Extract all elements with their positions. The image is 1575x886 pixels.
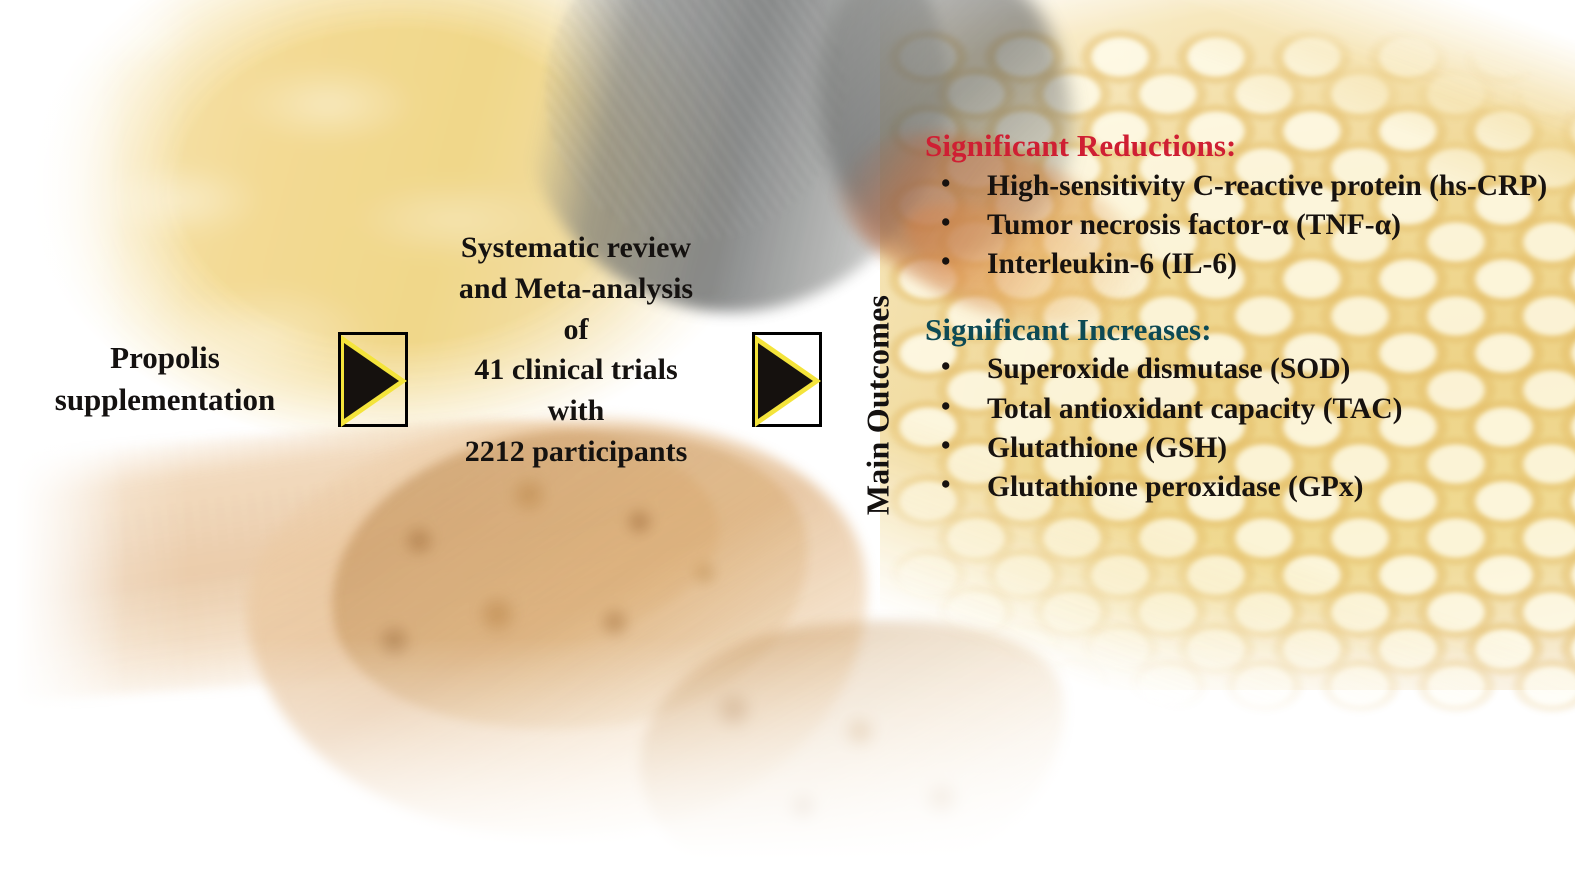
- graphical-abstract: Propolis supplementation Systematic revi…: [0, 0, 1575, 886]
- list-item: Glutathione peroxidase (GPx): [925, 468, 1575, 506]
- outcomes-column: Significant Reductions: High-sensitivity…: [925, 128, 1575, 507]
- significant-reductions-heading: Significant Reductions:: [925, 128, 1575, 165]
- section-spacer: [925, 284, 1575, 312]
- significant-increases-list: Superoxide dismutase (SOD)Total antioxid…: [925, 350, 1575, 506]
- main-outcomes-vertical-label-wrap: Main Outcomes: [860, 240, 896, 570]
- step-label-propolis-supplementation: Propolis supplementation: [0, 337, 330, 421]
- list-item: Glutathione (GSH): [925, 429, 1575, 467]
- significant-increases-heading: Significant Increases:: [925, 312, 1575, 349]
- main-outcomes-vertical-label: Main Outcomes: [860, 295, 897, 515]
- significant-reductions-list: High-sensitivity C-reactive protein (hs-…: [925, 167, 1575, 284]
- list-item: Total antioxidant capacity (TAC): [925, 390, 1575, 428]
- list-item: Tumor necrosis factor-α (TNF-α): [925, 206, 1575, 244]
- right-triangle-arrow-icon-2: [752, 332, 822, 427]
- right-triangle-arrow-icon-1: [338, 332, 408, 427]
- arrow-fill-2: [758, 343, 813, 419]
- step-label-systematic-review: Systematic review and Meta-analysis of 4…: [400, 228, 752, 473]
- list-item: Interleukin-6 (IL-6): [925, 245, 1575, 283]
- arrow-fill-1: [344, 343, 399, 419]
- list-item: High-sensitivity C-reactive protein (hs-…: [925, 167, 1575, 205]
- list-item: Superoxide dismutase (SOD): [925, 350, 1575, 388]
